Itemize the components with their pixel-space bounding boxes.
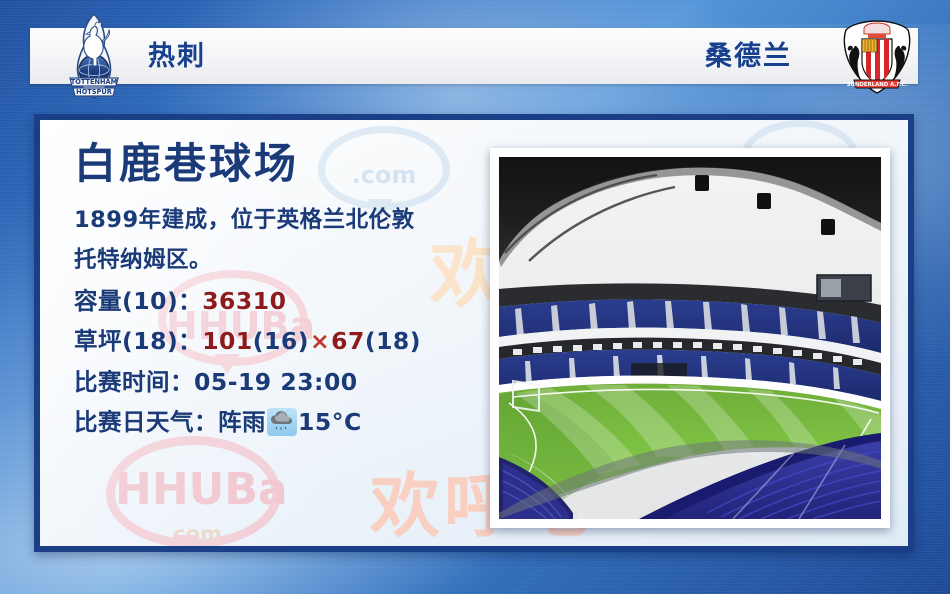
pitch-length-value: 101 <box>202 327 253 355</box>
tottenham-hotspur-crest: TOTTENHAM HOTSPUR <box>62 12 126 100</box>
home-team-name: 热刺 <box>148 34 206 80</box>
away-team-name: 桑德兰 <box>705 34 792 80</box>
stadium-info-column: 白鹿巷球场 1899年建成，位于英格兰北伦敦 托特纳姆区。 容量(10)：363… <box>74 142 494 443</box>
match-time-value: 05-19 23:00 <box>194 368 358 396</box>
rain-cloud-icon <box>267 408 297 436</box>
svg-text:TOTTENHAM: TOTTENHAM <box>71 78 117 86</box>
weather-condition: 阵雨 <box>218 408 266 436</box>
pitch-label: 草坪(18)： <box>74 327 202 355</box>
stadium-title: 白鹿巷球场 <box>74 142 494 186</box>
watermark-bubble-3: HHUBa .com <box>106 436 281 548</box>
sunderland-afc-crest: SUNDERLAND A.F.C. <box>838 18 916 96</box>
match-time-label: 比赛时间： <box>74 368 194 396</box>
pitch-width-note: (18) <box>365 327 421 355</box>
stadium-photo-frame <box>490 148 890 528</box>
pitch-multiply-sign: × <box>309 327 331 355</box>
stadium-description-line-2: 托特纳姆区。 <box>74 242 494 278</box>
match-time-row: 比赛时间：05-19 23:00 <box>74 362 494 402</box>
capacity-row: 容量(10)：36310 <box>74 281 494 321</box>
stadium-info-panel: .com .com HHUBa .com HHUBa 欢呼吧 欢呼吧 白鹿巷球场… <box>34 114 914 552</box>
pitch-width-value: 67 <box>331 327 365 355</box>
app-root: 热刺 桑德兰 <box>0 0 950 594</box>
capacity-label: 容量(10)： <box>74 287 202 315</box>
stadium-description-line-1: 1899年建成，位于英格兰北伦敦 <box>74 202 494 238</box>
pitch-row: 草坪(18)：101(16)×67(18) <box>74 321 494 361</box>
weather-temperature: 15°C <box>298 408 362 436</box>
match-weather-label: 比赛日天气： <box>74 408 218 436</box>
pitch-length-note: (16) <box>253 327 309 355</box>
stadium-photo <box>499 157 881 519</box>
match-weather-row: 比赛日天气：阵雨15°C <box>74 402 494 442</box>
svg-text:HOTSPUR: HOTSPUR <box>76 88 112 96</box>
svg-text:SUNDERLAND A.F.C.: SUNDERLAND A.F.C. <box>847 82 908 88</box>
capacity-value: 36310 <box>202 287 286 315</box>
